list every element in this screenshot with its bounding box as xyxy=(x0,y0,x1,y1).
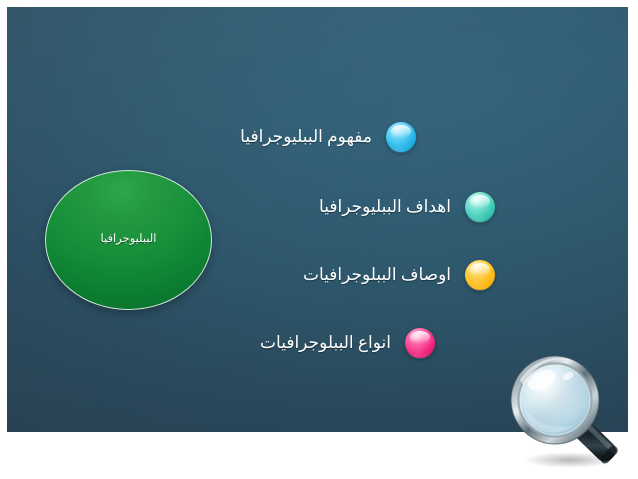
bullet-item-2[interactable]: اهداف الببليوجرافيا xyxy=(319,192,495,222)
central-topic-node[interactable]: الببليوجرافيا xyxy=(45,170,212,310)
presentation-slide: الببليوجرافيا مفهوم الببليوجرافيا اهداف … xyxy=(7,7,628,432)
bullet-item-1[interactable]: مفهوم الببليوجرافيا xyxy=(240,122,416,152)
teal-sphere-bullet xyxy=(465,192,495,222)
bullet-item-3[interactable]: اوصاف الببلوجرافيات xyxy=(303,260,495,290)
gold-sphere-bullet xyxy=(465,260,495,290)
bullet-label-4: انواع الببلوجرافيات xyxy=(260,333,391,353)
pink-sphere-bullet xyxy=(405,328,435,358)
bullet-label-1: مفهوم الببليوجرافيا xyxy=(240,127,372,147)
bullet-item-4[interactable]: انواع الببلوجرافيات xyxy=(260,328,435,358)
central-topic-label: الببليوجرافيا xyxy=(93,233,165,247)
bullet-label-2: اهداف الببليوجرافيا xyxy=(319,197,451,217)
bullet-label-3: اوصاف الببلوجرافيات xyxy=(303,265,451,285)
cyan-sphere-bullet xyxy=(386,122,416,152)
